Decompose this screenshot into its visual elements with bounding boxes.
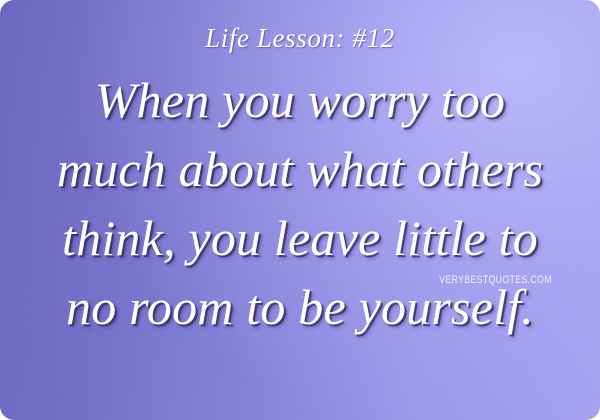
quote-line-2: much about what others [0, 135, 600, 204]
quote-card: Life Lesson: #12 When you worry too much… [0, 0, 600, 420]
page-title: Life Lesson: #12 [205, 24, 395, 54]
quote-line-3: think, you leave little to [0, 204, 600, 273]
watermark-source-label: VERYBESTQUOTES.COM [439, 274, 552, 286]
quote-text-block: When you worry too much about what other… [0, 66, 600, 342]
quote-line-1: When you worry too [0, 66, 600, 135]
